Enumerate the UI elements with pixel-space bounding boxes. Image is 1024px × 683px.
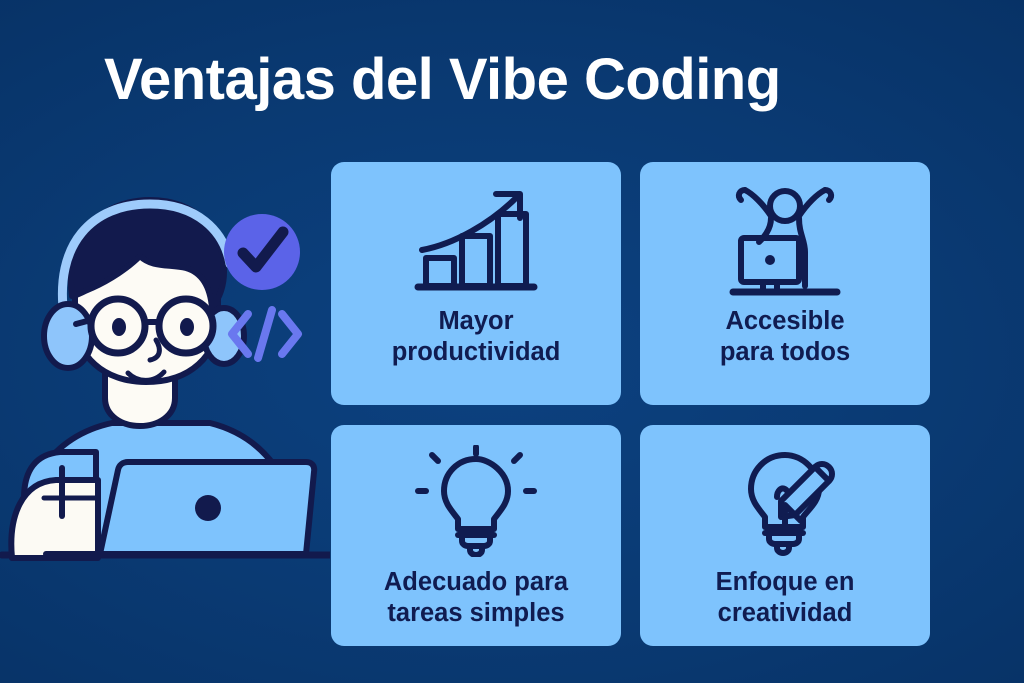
lightbulb-pencil-icon (719, 445, 851, 557)
lightbulb-icon (410, 445, 542, 557)
monitor-dot (765, 255, 775, 265)
slash-icon (258, 310, 272, 358)
bar-large (498, 214, 526, 286)
growth-arrow-curve (422, 196, 518, 250)
ray-top-right (514, 455, 520, 461)
person-hand-right (825, 190, 831, 200)
headphone-earcup-left (44, 304, 92, 368)
person-head (770, 191, 800, 221)
person-hand-left (739, 190, 745, 200)
person-arm-right (799, 190, 825, 216)
eye-left (112, 318, 126, 336)
check-circle-badge (224, 214, 300, 290)
benefit-card-enfoque-creatividad[interactable]: Enfoque en creatividad (640, 425, 930, 646)
glasses-temple (76, 320, 91, 324)
benefit-card-mayor-productividad[interactable]: Mayor productividad (331, 162, 621, 405)
developer-illustration (0, 168, 330, 568)
person-arm-left (745, 190, 771, 216)
bar-small (426, 258, 454, 286)
benefit-card-label: Adecuado para tareas simples (374, 567, 578, 629)
bar-medium (462, 236, 490, 286)
benefit-card-accesible-para-todos[interactable]: Accesible para todos (640, 162, 930, 405)
growth-bar-chart-icon (410, 182, 542, 300)
person-raising-arms-monitor-icon (719, 182, 851, 300)
benefit-card-label: Enfoque en creatividad (706, 567, 865, 629)
laptop-logo (195, 495, 221, 521)
benefit-card-label: Mayor productividad (382, 306, 571, 368)
benefits-grid: Mayor productividad Acces (331, 162, 930, 646)
page-title: Ventajas del Vibe Coding (104, 48, 781, 112)
bracket-right-icon (282, 314, 298, 354)
benefit-card-adecuado-tareas-simples[interactable]: Adecuado para tareas simples (331, 425, 621, 646)
ray-top-left (432, 455, 438, 461)
bulb-glass (444, 459, 508, 529)
eye-right (180, 318, 194, 336)
infographic-canvas: Ventajas del Vibe Coding (0, 0, 1024, 683)
benefit-card-label: Accesible para todos (710, 306, 860, 368)
